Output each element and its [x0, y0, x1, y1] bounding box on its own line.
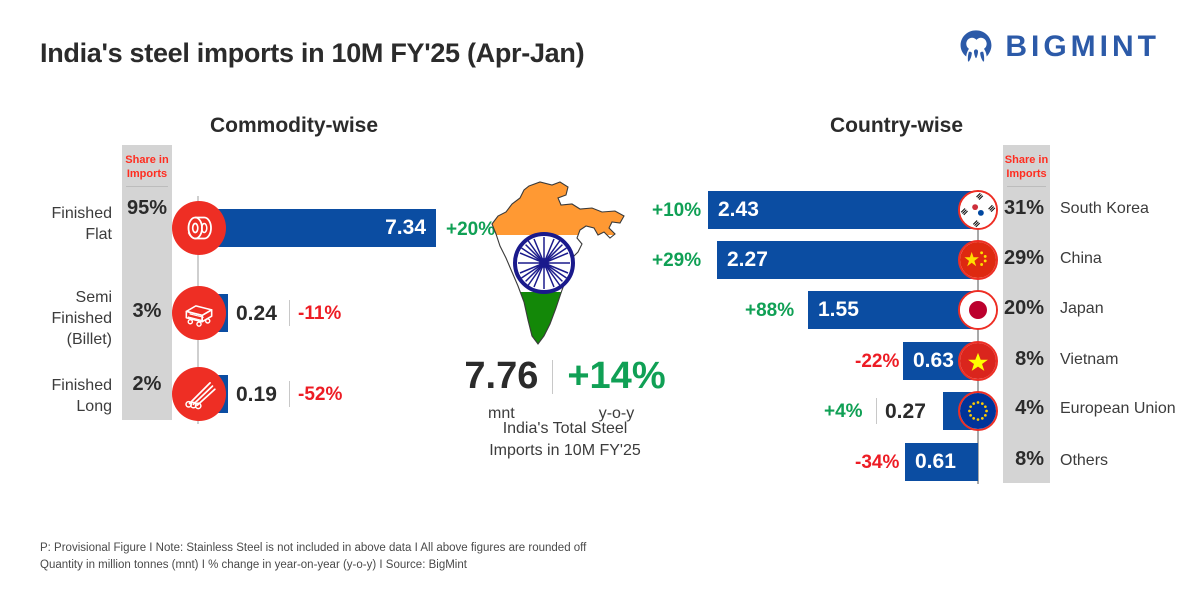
- bigmint-logo-icon: [957, 28, 995, 66]
- commodity-share-value: 3%: [122, 300, 172, 323]
- european-union-flag-icon: [958, 391, 998, 431]
- country-bar-value: 2.27: [727, 248, 768, 272]
- share-header-line1: Share in: [1005, 154, 1048, 166]
- commodity-category-label: Semi Finished (Billet): [20, 287, 112, 350]
- south-korea-flag-glyph: [960, 192, 996, 228]
- label-line: Long: [76, 398, 112, 415]
- share-header-line1: Share in: [125, 154, 168, 166]
- caption-line2: Imports in 10M FY'25: [489, 442, 641, 459]
- commodity-share-column: Share in Imports 95% 3% 2%: [122, 145, 172, 420]
- vietnam-flag-icon: [958, 341, 998, 381]
- country-bar: 2.43: [708, 191, 978, 229]
- country-label: South Korea: [1060, 200, 1149, 218]
- label-line: Finished: [52, 377, 112, 394]
- country-label: Japan: [1060, 300, 1104, 318]
- footer-notes: P: Provisional Figure I Note: Stainless …: [40, 540, 586, 574]
- commodity-change: -52%: [298, 384, 342, 406]
- kpi-divider: [552, 360, 553, 394]
- commodity-category-label: Finished Flat: [20, 203, 112, 245]
- country-label: Vietnam: [1060, 351, 1118, 369]
- share-header-line2: Imports: [127, 168, 167, 180]
- country-change: +10%: [652, 200, 701, 222]
- steel-bars-icon: [172, 367, 226, 421]
- brand-logo: BIGMINT: [957, 28, 1160, 66]
- steel-coil-icon: [172, 201, 226, 255]
- brand-logo-text: BIGMINT: [1005, 32, 1160, 62]
- commodity-bar: 7.34: [198, 209, 436, 247]
- country-share-column: Share in Imports 31% 29% 20% 8% 4% 8%: [1003, 145, 1050, 483]
- country-share-value: 4%: [1003, 397, 1050, 420]
- value-divider: [289, 381, 290, 407]
- commodity-category-label: Finished Long: [20, 375, 112, 417]
- header-divider: [1007, 186, 1047, 187]
- country-share-value: 8%: [1003, 348, 1050, 371]
- total-change: +14%: [567, 355, 665, 397]
- commodity-share-header: Share in Imports: [122, 153, 172, 181]
- country-share-value: 8%: [1003, 448, 1050, 471]
- country-share-value: 31%: [1003, 197, 1050, 220]
- header-divider: [126, 186, 168, 187]
- country-bar-value: 0.27: [885, 400, 926, 424]
- value-divider: [876, 398, 877, 424]
- steel-bars-glyph: [180, 375, 218, 413]
- label-line: Flat: [85, 226, 112, 243]
- japan-flag-icon: [958, 290, 998, 330]
- commodity-share-value: 2%: [122, 373, 172, 396]
- china-flag-glyph: [960, 242, 996, 278]
- share-header-line2: Imports: [1006, 168, 1046, 180]
- total-caption: India's Total Steel Imports in 10M FY'25: [430, 418, 700, 462]
- country-change: -34%: [855, 452, 899, 474]
- total-value: 7.76: [464, 355, 538, 397]
- country-change: +88%: [745, 300, 794, 322]
- japan-flag-glyph: [960, 292, 996, 328]
- infographic-canvas: India's steel imports in 10M FY'25 (Apr-…: [0, 0, 1200, 600]
- country-bar: 2.27: [717, 241, 978, 279]
- footer-line-1: P: Provisional Figure I Note: Stainless …: [40, 540, 586, 557]
- south-korea-flag-icon: [958, 190, 998, 230]
- european-union-flag-glyph: [960, 393, 996, 429]
- commodity-share-value: 95%: [122, 197, 172, 220]
- commodity-bar-value: 7.34: [385, 216, 426, 240]
- billet-stack-glyph: [180, 294, 218, 332]
- country-bar-value: 1.55: [818, 298, 859, 322]
- steel-coil-glyph: [181, 210, 217, 246]
- label-line: Finished: [52, 310, 112, 327]
- country-label: Others: [1060, 452, 1108, 470]
- commodity-bar-value: 0.19: [236, 383, 277, 407]
- country-axis-line: [977, 190, 979, 484]
- country-change: +4%: [824, 401, 863, 423]
- country-change: +29%: [652, 250, 701, 272]
- label-line: (Billet): [67, 331, 112, 348]
- country-bar: 0.61: [905, 443, 978, 481]
- country-share-value: 29%: [1003, 247, 1050, 270]
- country-bar-value: 2.43: [718, 198, 759, 222]
- commodity-section-title: Commodity-wise: [210, 114, 378, 138]
- country-label: European Union: [1060, 400, 1176, 418]
- caption-line1: India's Total Steel: [503, 420, 628, 437]
- country-share-header: Share in Imports: [1003, 153, 1050, 181]
- country-bar: 1.55: [808, 291, 978, 329]
- commodity-change: -11%: [298, 303, 341, 325]
- india-flag-map-icon: [482, 178, 632, 348]
- label-line: Semi: [76, 289, 112, 306]
- billet-stack-icon: [172, 286, 226, 340]
- country-change: -22%: [855, 351, 899, 373]
- label-line: Finished: [52, 205, 112, 222]
- vietnam-flag-glyph: [960, 343, 996, 379]
- footer-line-2: Quantity in million tonnes (mnt) I % cha…: [40, 557, 586, 574]
- country-share-value: 20%: [1003, 297, 1050, 320]
- country-label: China: [1060, 250, 1102, 268]
- country-bar-value: 0.63: [913, 349, 954, 373]
- ashoka-chakra-icon: [515, 234, 573, 292]
- page-title: India's steel imports in 10M FY'25 (Apr-…: [40, 38, 584, 69]
- country-bar-value: 0.61: [915, 450, 956, 474]
- value-divider: [289, 300, 290, 326]
- china-flag-icon: [958, 240, 998, 280]
- country-section-title: Country-wise: [830, 114, 963, 138]
- commodity-bar-value: 0.24: [236, 302, 277, 326]
